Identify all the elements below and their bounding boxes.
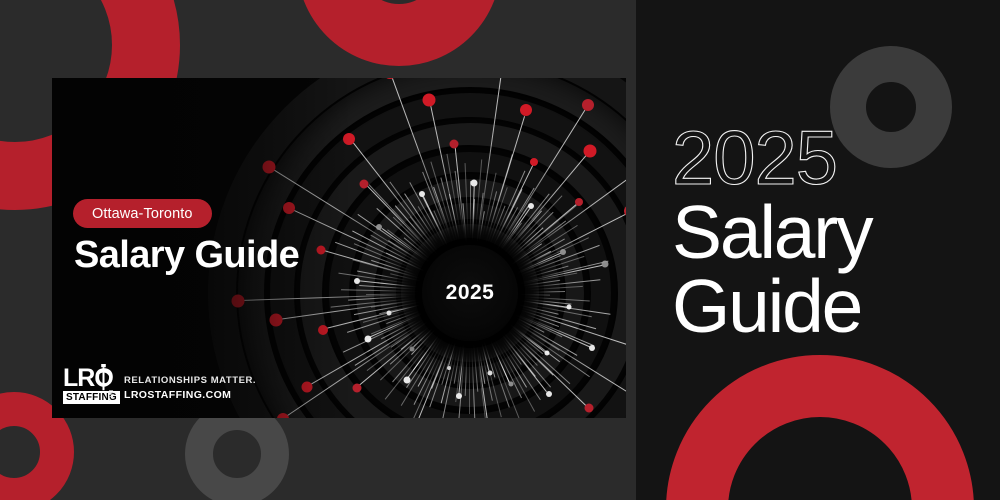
burst-dot bbox=[283, 202, 295, 214]
burst-dot bbox=[354, 278, 360, 284]
burst-dot bbox=[589, 345, 595, 351]
burst-dot bbox=[410, 346, 415, 351]
burst-dot bbox=[575, 198, 583, 206]
burst-dot bbox=[419, 191, 425, 197]
headline-line2: Guide bbox=[672, 269, 992, 343]
logo-suffix: INC. bbox=[107, 390, 113, 401]
burst-dot bbox=[583, 144, 596, 157]
burst-dot bbox=[343, 133, 355, 145]
burst-dot bbox=[376, 224, 382, 230]
burst-dot bbox=[383, 78, 397, 79]
center-year-label: 2025 bbox=[446, 281, 495, 305]
salary-guide-cover-card[interactable]: 2025 Ottawa-Toronto Salary Guide LRO STA… bbox=[52, 78, 626, 418]
burst-ray bbox=[520, 294, 550, 296]
burst-dot bbox=[232, 295, 245, 308]
burst-dot bbox=[318, 325, 328, 335]
headline-block: 2025 Salary Guide bbox=[672, 124, 992, 343]
burst-dot bbox=[530, 158, 538, 166]
burst-ray bbox=[469, 349, 470, 414]
burst-dot bbox=[520, 104, 532, 116]
burst-dot bbox=[269, 314, 282, 327]
logo-tagline: RELATIONSHIPS MATTER. LROSTAFFING.COM bbox=[124, 372, 256, 403]
headline-line1: Salary bbox=[672, 195, 992, 269]
burst-ray-long bbox=[287, 321, 427, 416]
burst-dot bbox=[423, 94, 436, 107]
region-badge: Ottawa-Toronto bbox=[73, 199, 212, 228]
burst-dot bbox=[450, 139, 459, 148]
tagline-line-1: RELATIONSHIPS MATTER. bbox=[124, 374, 256, 388]
burst-dot bbox=[470, 180, 477, 187]
burst-dot bbox=[545, 351, 550, 356]
burst-dot bbox=[447, 366, 451, 370]
burst-dot bbox=[263, 161, 276, 174]
lro-staffing-logo[interactable]: LRO STAFFING INC. RELATIONSHIPS MATTER. … bbox=[60, 364, 256, 411]
burst-dot bbox=[317, 246, 326, 255]
burst-dot bbox=[601, 261, 608, 268]
burst-dot bbox=[360, 179, 369, 188]
burst-dot bbox=[582, 99, 594, 111]
region-badge-label: Ottawa-Toronto bbox=[92, 206, 193, 222]
tagline-line-2: LROSTAFFING.COM bbox=[124, 388, 256, 403]
logo-mark: LRO STAFFING INC. bbox=[60, 364, 115, 411]
burst-ray bbox=[532, 291, 565, 293]
center-year-disc: 2025 bbox=[422, 245, 518, 341]
burst-dot bbox=[364, 335, 371, 342]
headline-year: 2025 bbox=[672, 124, 992, 195]
card-title: Salary Guide bbox=[74, 234, 299, 277]
burst-dot bbox=[352, 384, 361, 393]
burst-dot bbox=[386, 311, 391, 316]
burst-dot bbox=[560, 249, 566, 255]
poster-canvas: 2025 Ottawa-Toronto Salary Guide LRO STA… bbox=[0, 0, 1000, 500]
burst-dot bbox=[302, 382, 313, 393]
burst-dot bbox=[528, 203, 534, 209]
burst-dot bbox=[508, 382, 513, 387]
burst-dot bbox=[624, 205, 626, 217]
burst-ray bbox=[470, 181, 471, 237]
burst-dot bbox=[487, 370, 492, 375]
burst-ray bbox=[341, 289, 420, 292]
burst-dot bbox=[546, 391, 552, 397]
burst-dot bbox=[567, 304, 572, 309]
burst-dot bbox=[456, 393, 462, 399]
burst-dot bbox=[585, 404, 594, 413]
burst-ray bbox=[465, 352, 468, 396]
burst-dot bbox=[403, 377, 410, 384]
